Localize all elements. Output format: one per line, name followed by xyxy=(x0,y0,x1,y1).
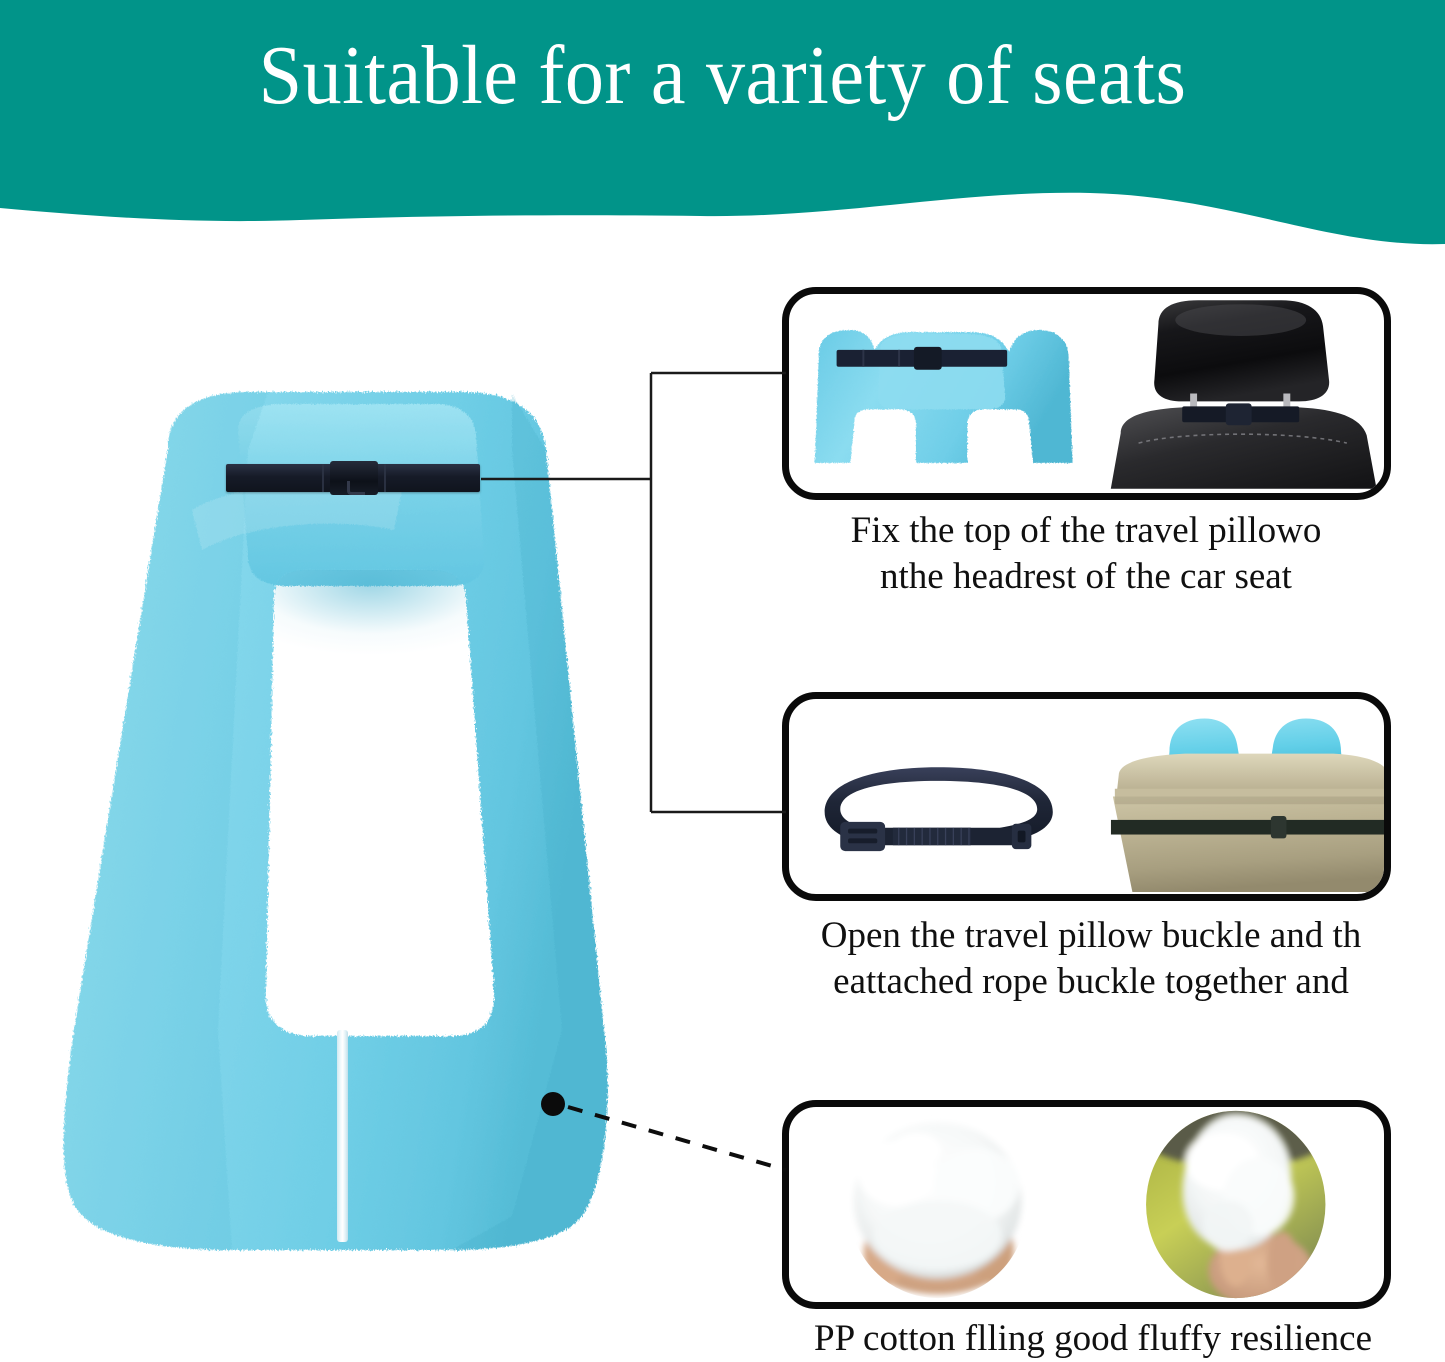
travel-pillow-top-with-strap-photo xyxy=(789,294,1087,493)
travel-pillow-shape xyxy=(42,390,657,1270)
adjustable-rope-buckle-belt-photo xyxy=(789,699,1087,894)
pp-cotton-filling-handful-photo xyxy=(789,1107,1087,1302)
caption-headrest: Fix the top of the travel pillowo nthe h… xyxy=(766,508,1406,600)
side-release-buckle xyxy=(330,461,378,495)
caption-pp-cotton: PP cotton flling good fluffy resilience xyxy=(748,1316,1438,1362)
pillow-strap-buckle xyxy=(226,461,480,495)
header-banner: Suitable for a variety of seats xyxy=(0,0,1445,260)
car-seat-headrest-with-strap-photo xyxy=(1087,294,1385,493)
strap-stitch xyxy=(384,464,386,492)
pillow-zipper-seam xyxy=(337,1030,348,1242)
beige-seat-back-with-belt-photo xyxy=(1087,699,1385,894)
page-title: Suitable for a variety of seats xyxy=(51,28,1395,124)
main-product-image xyxy=(42,390,657,1270)
callout-box-buckle-belt xyxy=(782,692,1391,901)
strap-stitch xyxy=(322,464,324,492)
callout-box-pp-cotton xyxy=(782,1100,1391,1309)
pp-cotton-filling-pulled-photo xyxy=(1087,1107,1385,1302)
filling-callout-dot-marker xyxy=(541,1092,565,1116)
caption-buckle-belt: Open the travel pillow buckle and th eat… xyxy=(766,913,1416,1005)
callout-box-headrest xyxy=(782,287,1391,500)
